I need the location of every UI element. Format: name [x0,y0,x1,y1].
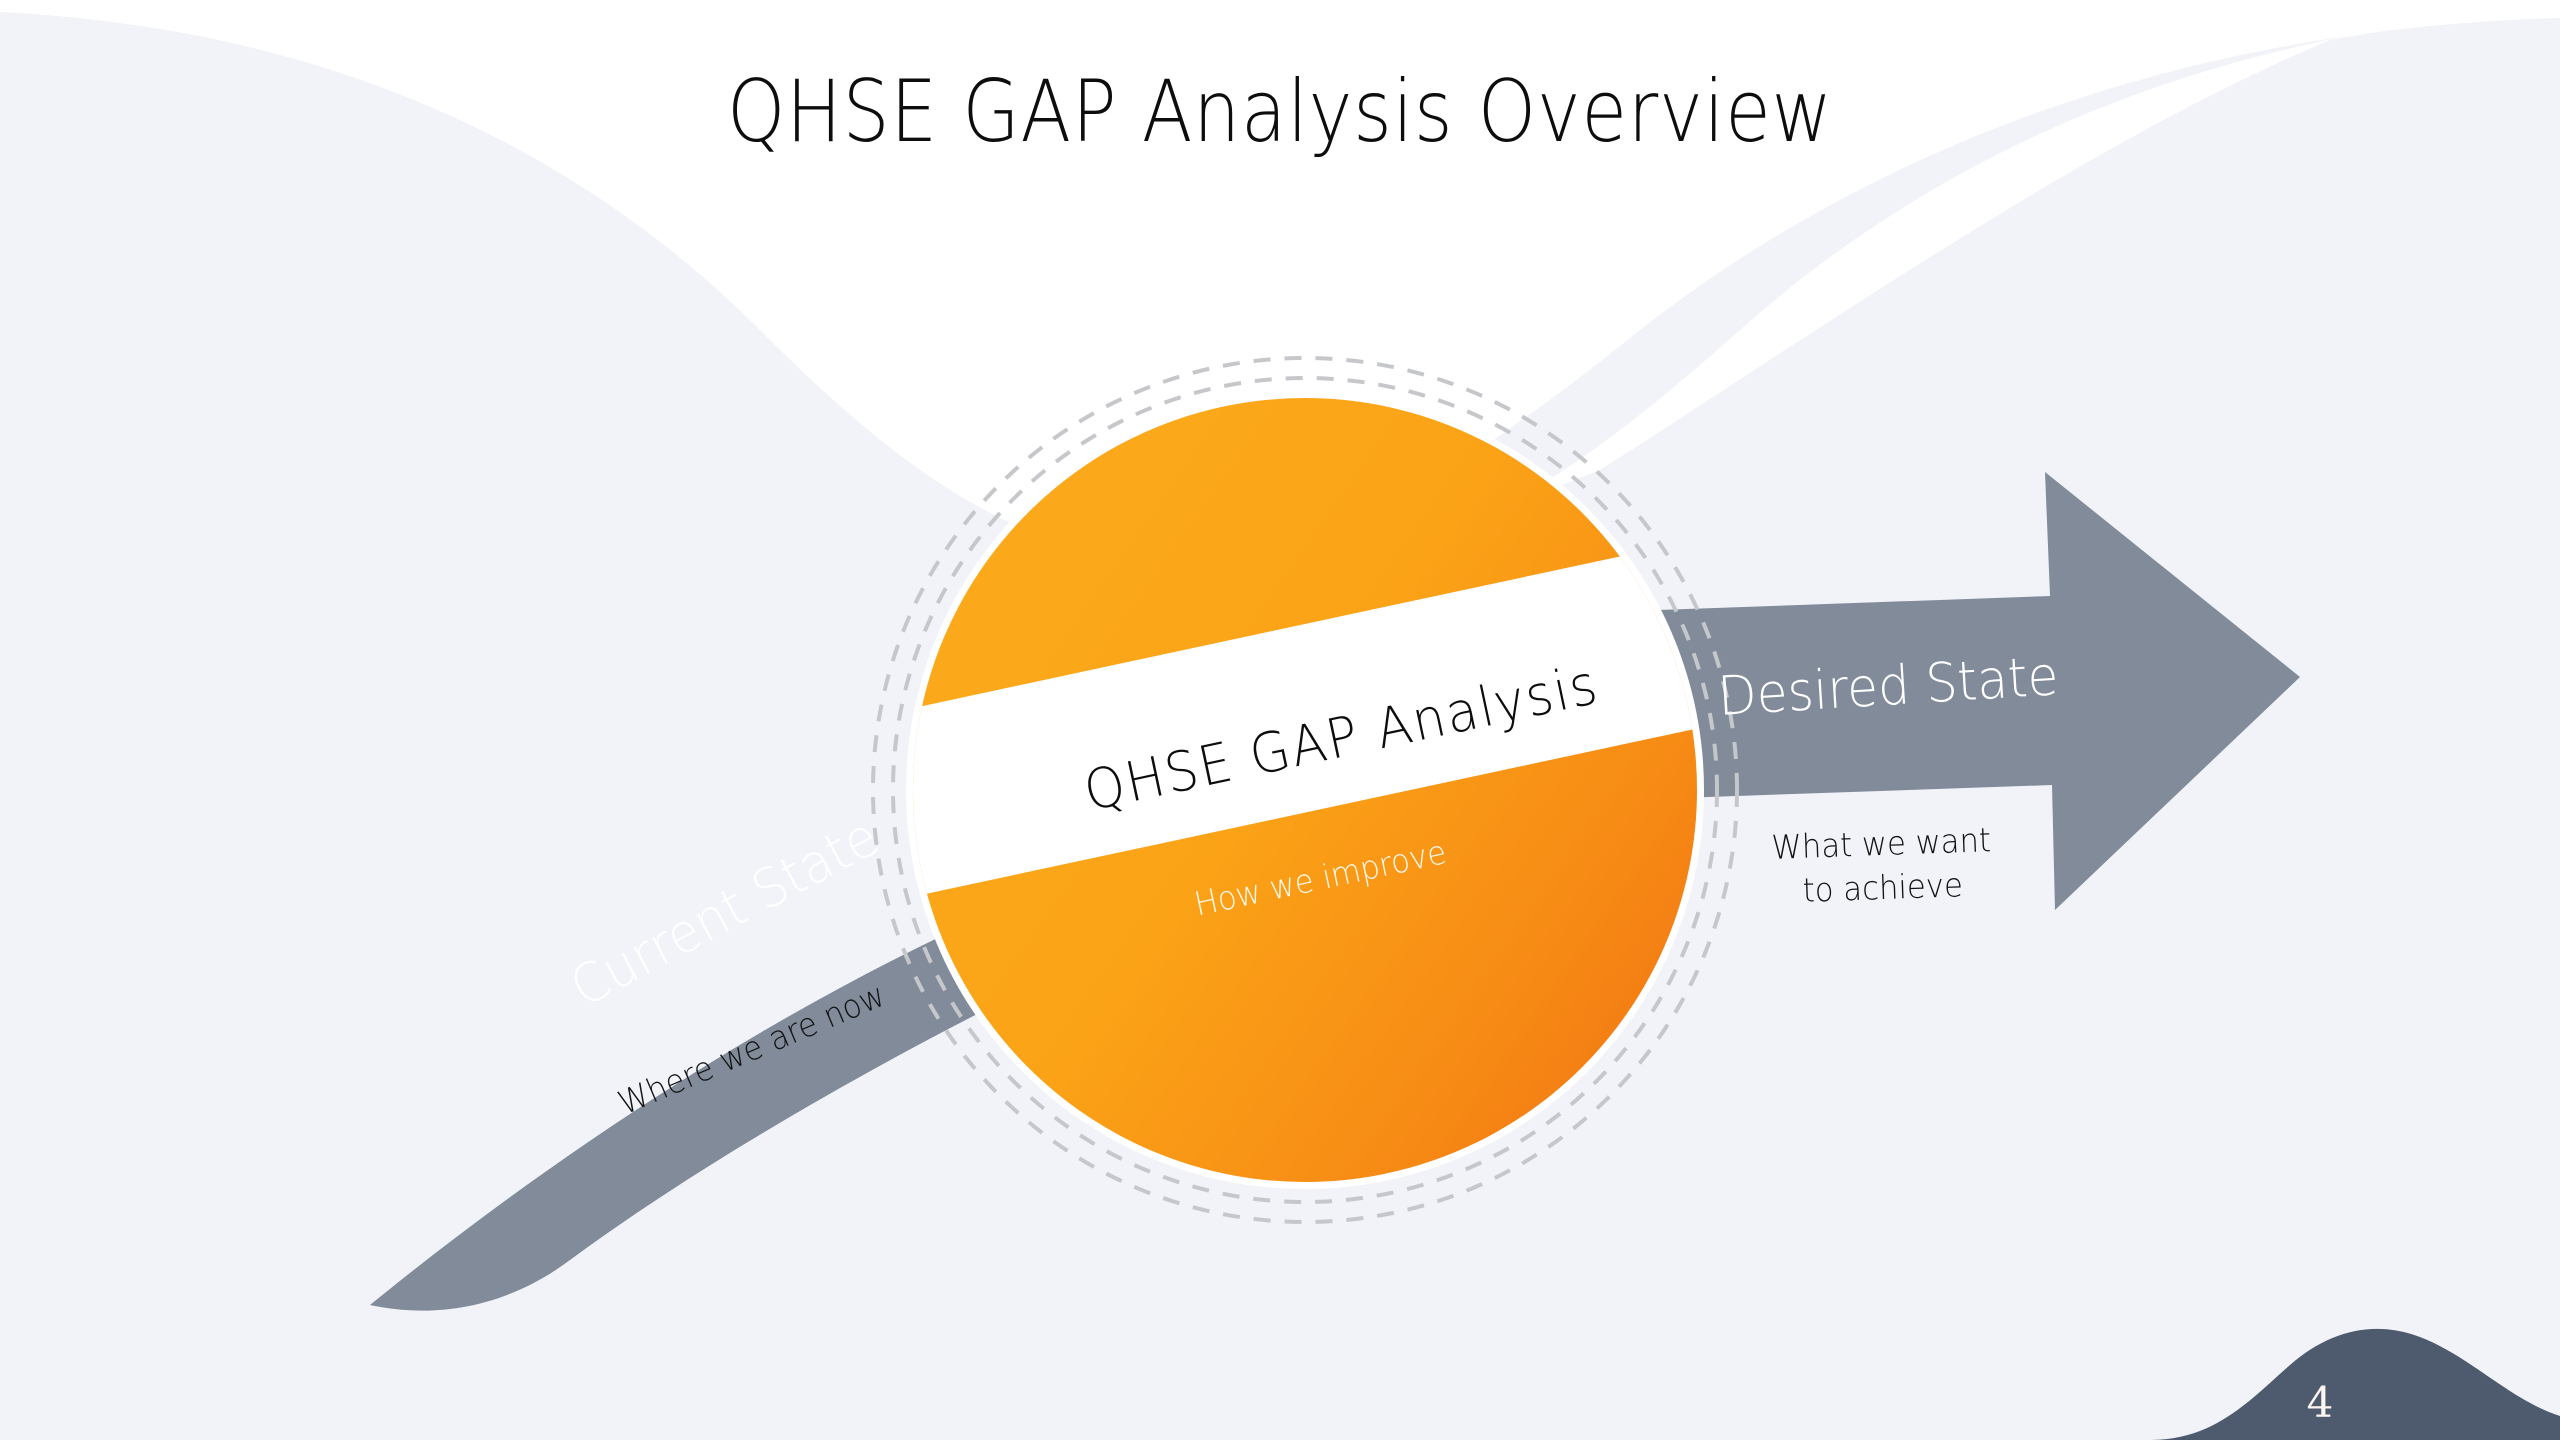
slide-canvas: QHSE GAP Analysis Overview [0,0,2560,1440]
page-number: 4 [2290,1378,2350,1427]
page-title: QHSE GAP Analysis Overview [179,62,2381,162]
label-desired-state-sublabel: What we wantto achieve [1760,818,2005,913]
